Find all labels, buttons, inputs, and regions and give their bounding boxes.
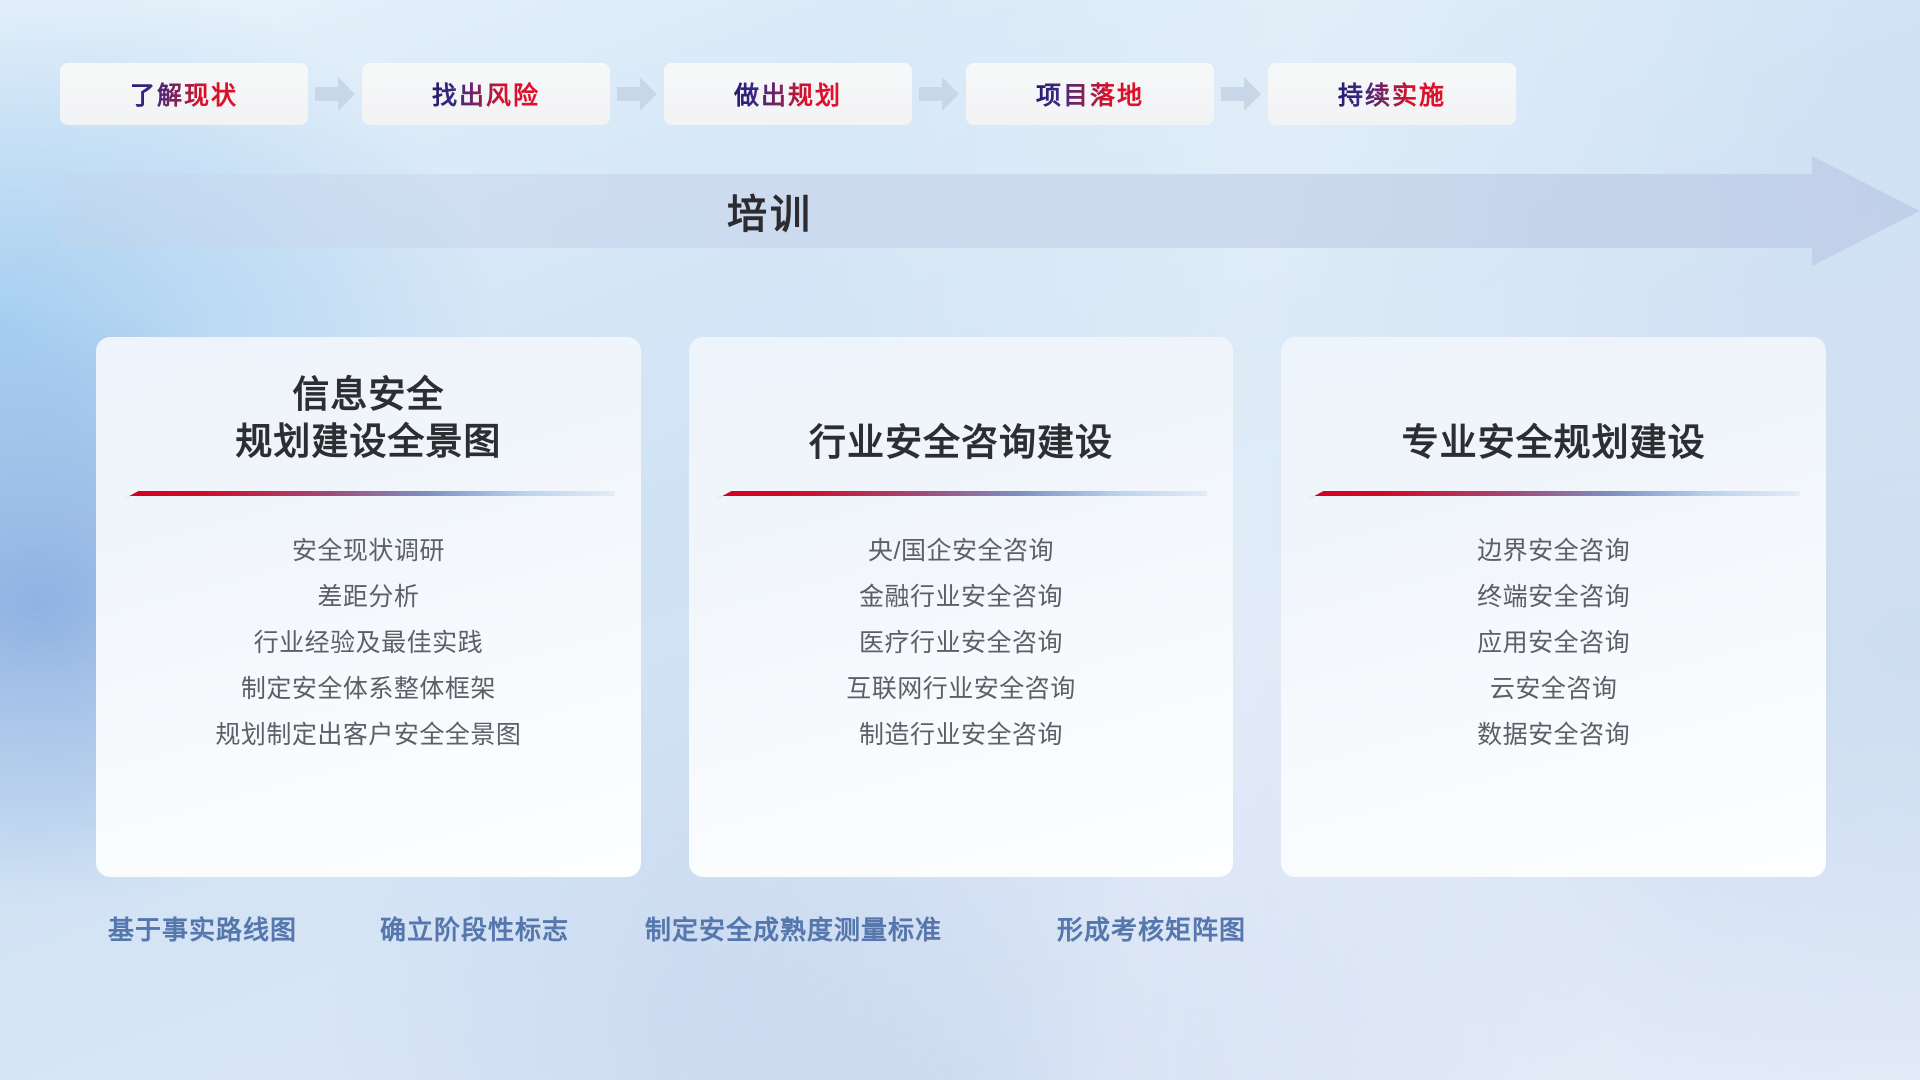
step-label: 项目落地 [1036, 76, 1144, 112]
card-title: 专业安全规划建设 [1307, 371, 1800, 467]
arrow-right-icon-3 [912, 63, 966, 125]
list-item: 差距分析 [122, 577, 615, 623]
card-title-line: 行业安全咨询建设 [715, 371, 1208, 466]
list-item: 应用安全咨询 [1307, 623, 1800, 669]
arrow-right-icon-4 [1214, 63, 1268, 125]
list-item: 云安全咨询 [1307, 669, 1800, 715]
step-box-1[interactable]: 了解现状 [60, 63, 308, 125]
card-list: 边界安全咨询 终端安全咨询 应用安全咨询 云安全咨询 数据安全咨询 [1307, 531, 1800, 761]
arrow-right-icon-1 [308, 63, 362, 125]
list-item: 安全现状调研 [122, 531, 615, 577]
step-label: 持续实施 [1338, 76, 1446, 112]
footer-label-maturity: 制定安全成熟度测量标准 [645, 910, 942, 947]
card-list: 央/国企安全咨询 金融行业安全咨询 医疗行业安全咨询 互联网行业安全咨询 制造行… [715, 531, 1208, 761]
card-row: 信息安全 规划建设全景图 安全现状调研 差 [96, 337, 1826, 877]
step-box-5[interactable]: 持续实施 [1268, 63, 1516, 125]
footer-label-milestone: 确立阶段性标志 [380, 910, 569, 947]
footer-label-row: 基于事实路线图 确立阶段性标志 制定安全成熟度测量标准 形成考核矩阵图 [0, 910, 1920, 966]
list-item: 央/国企安全咨询 [715, 531, 1208, 577]
list-item: 数据安全咨询 [1307, 715, 1800, 761]
card-title: 信息安全 规划建设全景图 [122, 371, 615, 467]
card-title-line: 规划建设全景图 [122, 418, 615, 465]
card-list: 安全现状调研 差距分析 行业经验及最佳实践 制定安全体系整体框架 规划制定出客户… [122, 531, 615, 761]
card-divider-icon [1307, 489, 1800, 501]
process-step-row: 了解现状 找出风险 做出规划 项目落地 持续实施 [60, 63, 1860, 125]
card-panorama[interactable]: 信息安全 规划建设全景图 安全现状调研 差 [96, 337, 641, 877]
step-box-2[interactable]: 找出风险 [362, 63, 610, 125]
training-label-wrap: 培训 [0, 156, 1540, 266]
list-item: 行业经验及最佳实践 [122, 623, 615, 669]
list-item: 金融行业安全咨询 [715, 577, 1208, 623]
training-label: 培训 [727, 182, 813, 240]
list-item: 终端安全咨询 [1307, 577, 1800, 623]
list-item: 制定安全体系整体框架 [122, 669, 615, 715]
card-industry-consulting[interactable]: 行业安全咨询建设 央/国企安全咨询 金融行业安全咨询 [689, 337, 1234, 877]
list-item: 制造行业安全咨询 [715, 715, 1208, 761]
footer-label-matrix: 形成考核矩阵图 [1057, 910, 1246, 947]
footer-label-roadmap: 基于事实路线图 [108, 910, 297, 947]
card-professional-planning[interactable]: 专业安全规划建设 边界安全咨询 终端安全咨询 [1281, 337, 1826, 877]
card-title-line: 专业安全规划建设 [1307, 371, 1800, 466]
card-divider-icon [715, 489, 1208, 501]
step-box-3[interactable]: 做出规划 [664, 63, 912, 125]
step-label: 了解现状 [130, 76, 238, 112]
step-label: 做出规划 [734, 76, 842, 112]
arrow-right-icon-2 [610, 63, 664, 125]
list-item: 互联网行业安全咨询 [715, 669, 1208, 715]
card-divider-icon [122, 489, 615, 501]
list-item: 医疗行业安全咨询 [715, 623, 1208, 669]
list-item: 规划制定出客户安全全景图 [122, 715, 615, 761]
list-item: 边界安全咨询 [1307, 531, 1800, 577]
step-box-4[interactable]: 项目落地 [966, 63, 1214, 125]
card-title-line: 信息安全 [122, 371, 615, 418]
card-title: 行业安全咨询建设 [715, 371, 1208, 467]
step-label: 找出风险 [432, 76, 540, 112]
